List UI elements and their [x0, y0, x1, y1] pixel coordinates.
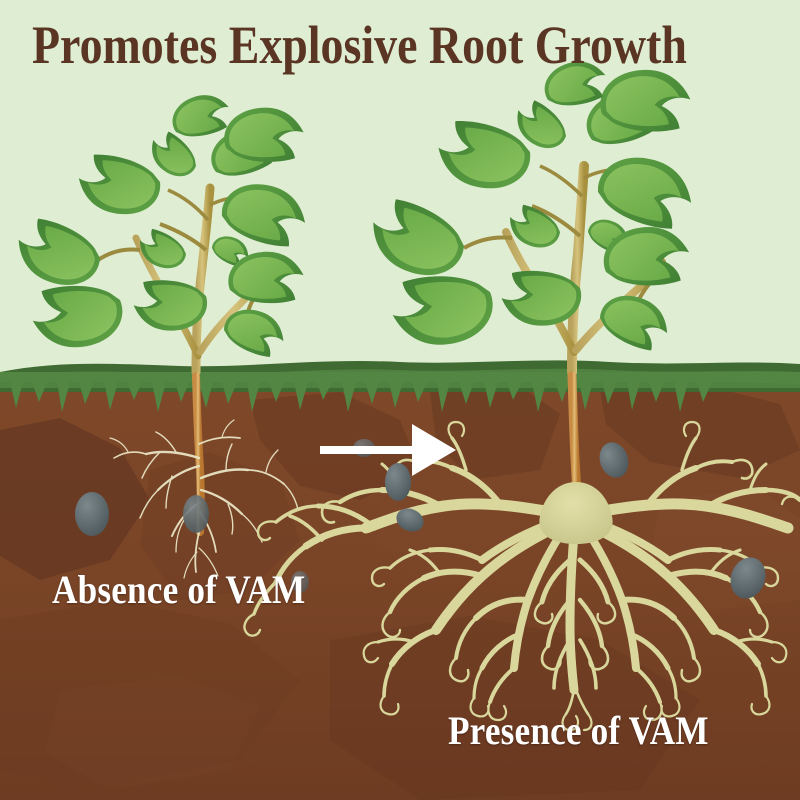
page-title: Promotes Explosive Root Growth	[32, 16, 687, 74]
pebble	[183, 495, 209, 533]
pebble	[385, 463, 411, 501]
label-absence-of-vam: Absence of VAM	[52, 566, 305, 613]
pebble	[75, 492, 109, 536]
label-presence-of-vam: Presence of VAM	[448, 707, 709, 754]
illustration-scene	[0, 0, 800, 800]
infographic-root: Promotes Explosive Root Growth Absence o…	[0, 0, 800, 800]
